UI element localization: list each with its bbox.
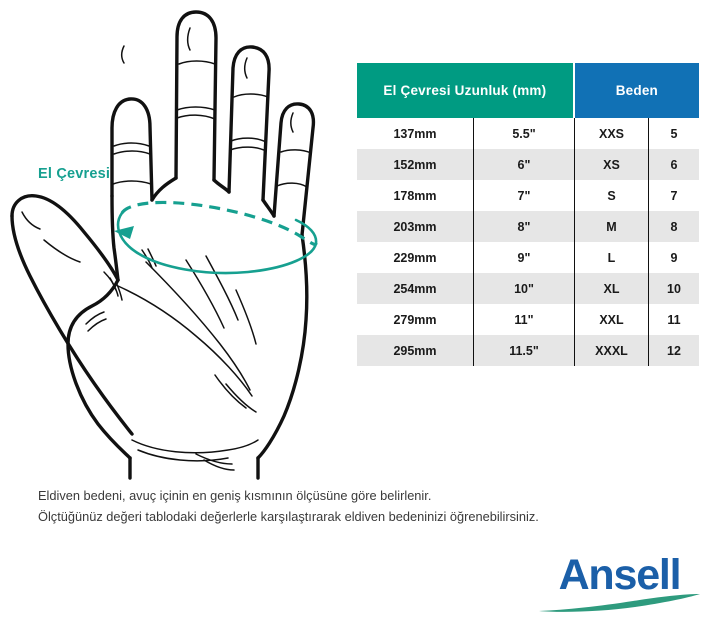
cell-inch: 11.5": [473, 335, 574, 366]
palm-heart-line: [146, 262, 250, 390]
hand-circumference-dashed-arc: [122, 202, 316, 244]
ansell-logo: Ansell: [537, 552, 702, 614]
cell-inch: 10": [473, 273, 574, 304]
table-row: 203mm 8" M 8: [357, 211, 699, 242]
caption-line-1: Eldiven bedeni, avuç içinin en geniş kıs…: [38, 486, 678, 507]
nail-thumb: [22, 212, 40, 229]
nail-index: [122, 46, 124, 63]
table-row: 279mm 11" XXL 11: [357, 304, 699, 335]
crease-index-3: [113, 181, 151, 184]
little-finger-outline: [274, 104, 313, 235]
cell-size: XL: [574, 273, 648, 304]
table-row: 178mm 7" S 7: [357, 180, 699, 211]
cell-size: M: [574, 211, 648, 242]
nail-ring: [245, 58, 247, 78]
cell-mm: 203mm: [357, 211, 473, 242]
thumb-pad-crease-2: [88, 319, 106, 331]
caption-text: Eldiven bedeni, avuç içinin en geniş kıs…: [38, 486, 678, 527]
index-finger-outline: [112, 99, 152, 200]
table-row: 137mm 5.5" XXS 5: [357, 118, 699, 149]
cell-inch: 11": [473, 304, 574, 335]
header-hand-circumference: El Çevresi Uzunluk (mm): [357, 63, 573, 118]
table-row: 152mm 6" XS 6: [357, 149, 699, 180]
thumb-upper-outline: [12, 196, 118, 280]
palm-minor-line-3: [215, 375, 246, 408]
palm-minor-line-1: [206, 256, 238, 320]
table-header-row: El Çevresi Uzunluk (mm) Beden: [357, 63, 699, 118]
crease-ring-3: [230, 147, 266, 151]
cell-size: S: [574, 180, 648, 211]
nail-little: [291, 113, 293, 132]
thumb-joint-crease: [44, 240, 80, 262]
header-size: Beden: [575, 63, 699, 118]
web-wrinkle-5: [148, 249, 156, 266]
index-base-line: [112, 196, 118, 280]
hand-illustration: El Çevresi: [0, 0, 350, 480]
cell-mm: 178mm: [357, 180, 473, 211]
cell-mm: 152mm: [357, 149, 473, 180]
cell-number: 11: [648, 304, 699, 335]
middle-finger-outline: [176, 12, 216, 180]
web-index-middle: [152, 178, 176, 200]
nail-middle: [188, 28, 190, 50]
wrist-crease-4: [204, 460, 234, 470]
cell-mm: 279mm: [357, 304, 473, 335]
cell-number: 7: [648, 180, 699, 211]
cell-size: L: [574, 242, 648, 273]
cell-size: XXXL: [574, 335, 648, 366]
cell-inch: 6": [473, 149, 574, 180]
cell-size: XXS: [574, 118, 648, 149]
web-ring-little: [263, 200, 274, 216]
cell-mm: 229mm: [357, 242, 473, 273]
web-middle-ring: [214, 180, 229, 192]
table-row: 295mm 11.5" XXXL 12: [357, 335, 699, 366]
table-row: 254mm 10" XL 10: [357, 273, 699, 304]
wrist-crease-1: [132, 440, 258, 453]
crease-little-1: [281, 150, 311, 153]
hand-diagram-svg: [0, 0, 350, 480]
crease-index-2: [114, 151, 150, 154]
palm-minor-line-4: [226, 384, 256, 412]
crease-middle-1: [179, 61, 215, 64]
cell-size: XS: [574, 149, 648, 180]
cell-inch: 9": [473, 242, 574, 273]
crease-ring-2: [231, 138, 266, 142]
cell-number: 5: [648, 118, 699, 149]
crease-index-1: [114, 143, 149, 146]
cell-mm: 295mm: [357, 335, 473, 366]
ansell-swoosh-icon: [537, 594, 702, 614]
crease-middle-3: [177, 115, 215, 119]
size-chart-page: El Çevresi El Çevresi Uzunluk (mm) Beden…: [0, 0, 706, 619]
hand-circumference-label: El Çevresi: [38, 166, 110, 182]
cell-mm: 137mm: [357, 118, 473, 149]
crease-little-2: [277, 183, 307, 187]
cell-mm: 254mm: [357, 273, 473, 304]
palm-minor-line-2: [236, 290, 256, 344]
cell-number: 6: [648, 149, 699, 180]
cell-size: XXL: [574, 304, 648, 335]
palm-left-edge: [68, 280, 130, 458]
cell-number: 10: [648, 273, 699, 304]
crease-middle-2: [177, 107, 215, 110]
table-row: 229mm 9" L 9: [357, 242, 699, 273]
crease-ring-1: [234, 94, 268, 97]
cell-inch: 5.5": [473, 118, 574, 149]
cell-inch: 7": [473, 180, 574, 211]
glove-size-table: El Çevresi Uzunluk (mm) Beden 137mm 5.5"…: [357, 63, 699, 366]
cell-number: 9: [648, 242, 699, 273]
table-body: 137mm 5.5" XXS 5 152mm 6" XS 6 178mm 7" …: [357, 118, 699, 366]
caption-line-2: Ölçtüğünüz değeri tablodaki değerlerle k…: [38, 507, 678, 528]
ring-finger-outline: [229, 47, 269, 200]
cell-number: 12: [648, 335, 699, 366]
cell-inch: 8": [473, 211, 574, 242]
ansell-wordmark: Ansell: [537, 552, 702, 598]
cell-number: 8: [648, 211, 699, 242]
thumb-pad-crease-1: [86, 312, 104, 324]
